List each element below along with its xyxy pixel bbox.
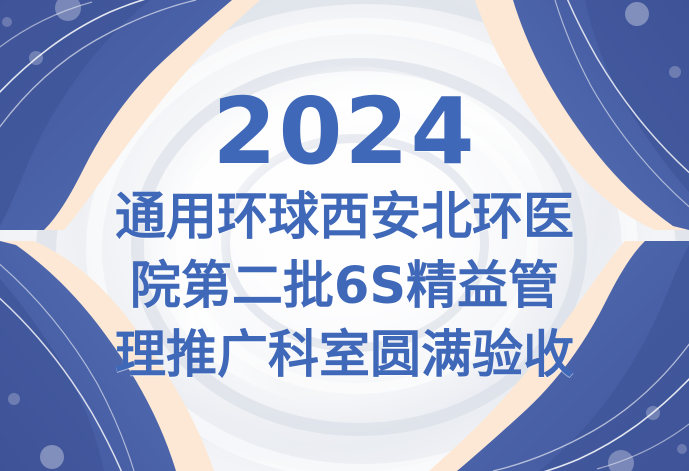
headline-line-3: 理推广科室圆满验收	[115, 322, 574, 391]
poster-content: 2024 通用环球西安北环医 院第二批6S精益管 理推广科室圆满验收	[0, 0, 689, 471]
year-heading: 2024	[212, 88, 476, 176]
headline-block: 通用环球西安北环医 院第二批6S精益管 理推广科室圆满验收	[115, 184, 574, 391]
headline-line-1: 通用环球西安北环医	[115, 184, 574, 253]
poster-canvas: 2024 通用环球西安北环医 院第二批6S精益管 理推广科室圆满验收	[0, 0, 689, 471]
headline-line-2: 院第二批6S精益管	[130, 253, 559, 322]
